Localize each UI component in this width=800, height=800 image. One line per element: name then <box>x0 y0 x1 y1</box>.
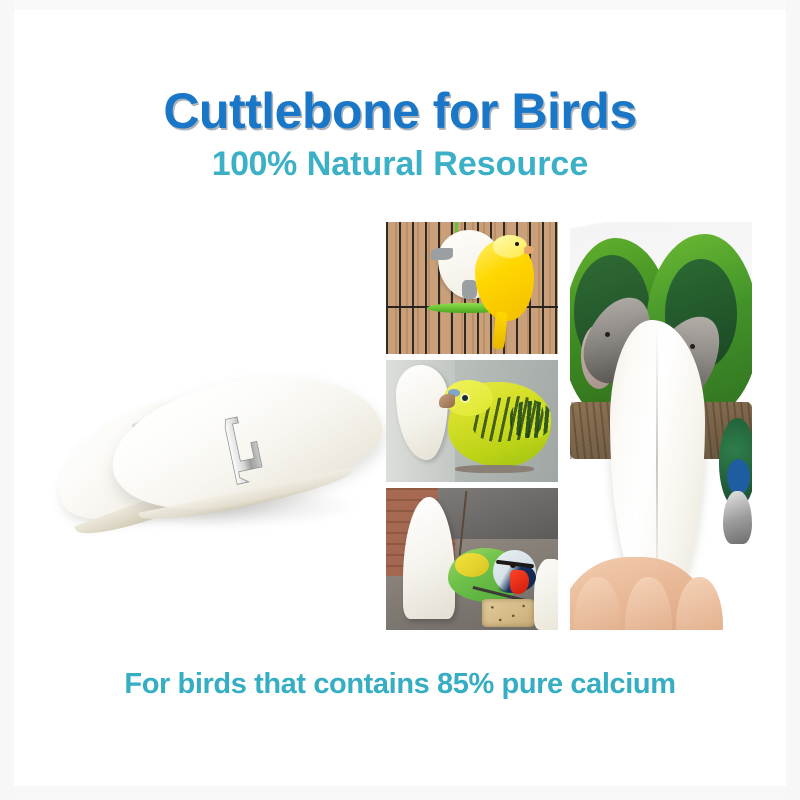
yellow-budgie-beak <box>524 246 534 254</box>
page-title: Cuttlebone for Birds <box>0 82 800 140</box>
footer-tagline: For birds that contains 85% pure calcium <box>0 668 800 701</box>
photo-budgie-pecking-cuttlebone <box>386 360 558 482</box>
cuttlebone-ridge <box>656 328 658 597</box>
product-shot <box>48 372 378 552</box>
cage-bell-icon <box>723 491 752 544</box>
photo-yellow-budgie-in-cage <box>386 222 558 354</box>
ringneck-eye <box>510 562 516 568</box>
subtitle-text: Natural Resource <box>307 145 589 183</box>
photo-hand-holding-cuttlebone <box>570 222 752 630</box>
yellow-budgie-eye <box>515 242 519 246</box>
green-budgie-beak <box>439 394 454 407</box>
subtitle-percent: 100% <box>212 145 297 183</box>
photo-ringneck-parakeet <box>386 488 558 630</box>
subtitle: 100%Natural Resource <box>0 145 800 184</box>
parrot-left-eye <box>605 332 610 337</box>
cage-clip-right-icon <box>462 280 477 298</box>
photo-collage <box>386 222 558 630</box>
cuttlebone-secondary <box>534 559 558 630</box>
seed-treat-block <box>482 599 534 627</box>
yellow-budgie-head <box>493 235 527 257</box>
photo2-perch <box>455 465 534 474</box>
photo3-roof <box>438 488 558 539</box>
cage-clip-left-icon <box>431 248 453 260</box>
poster: Cuttlebone for Birds 100%Natural Resourc… <box>0 0 800 800</box>
